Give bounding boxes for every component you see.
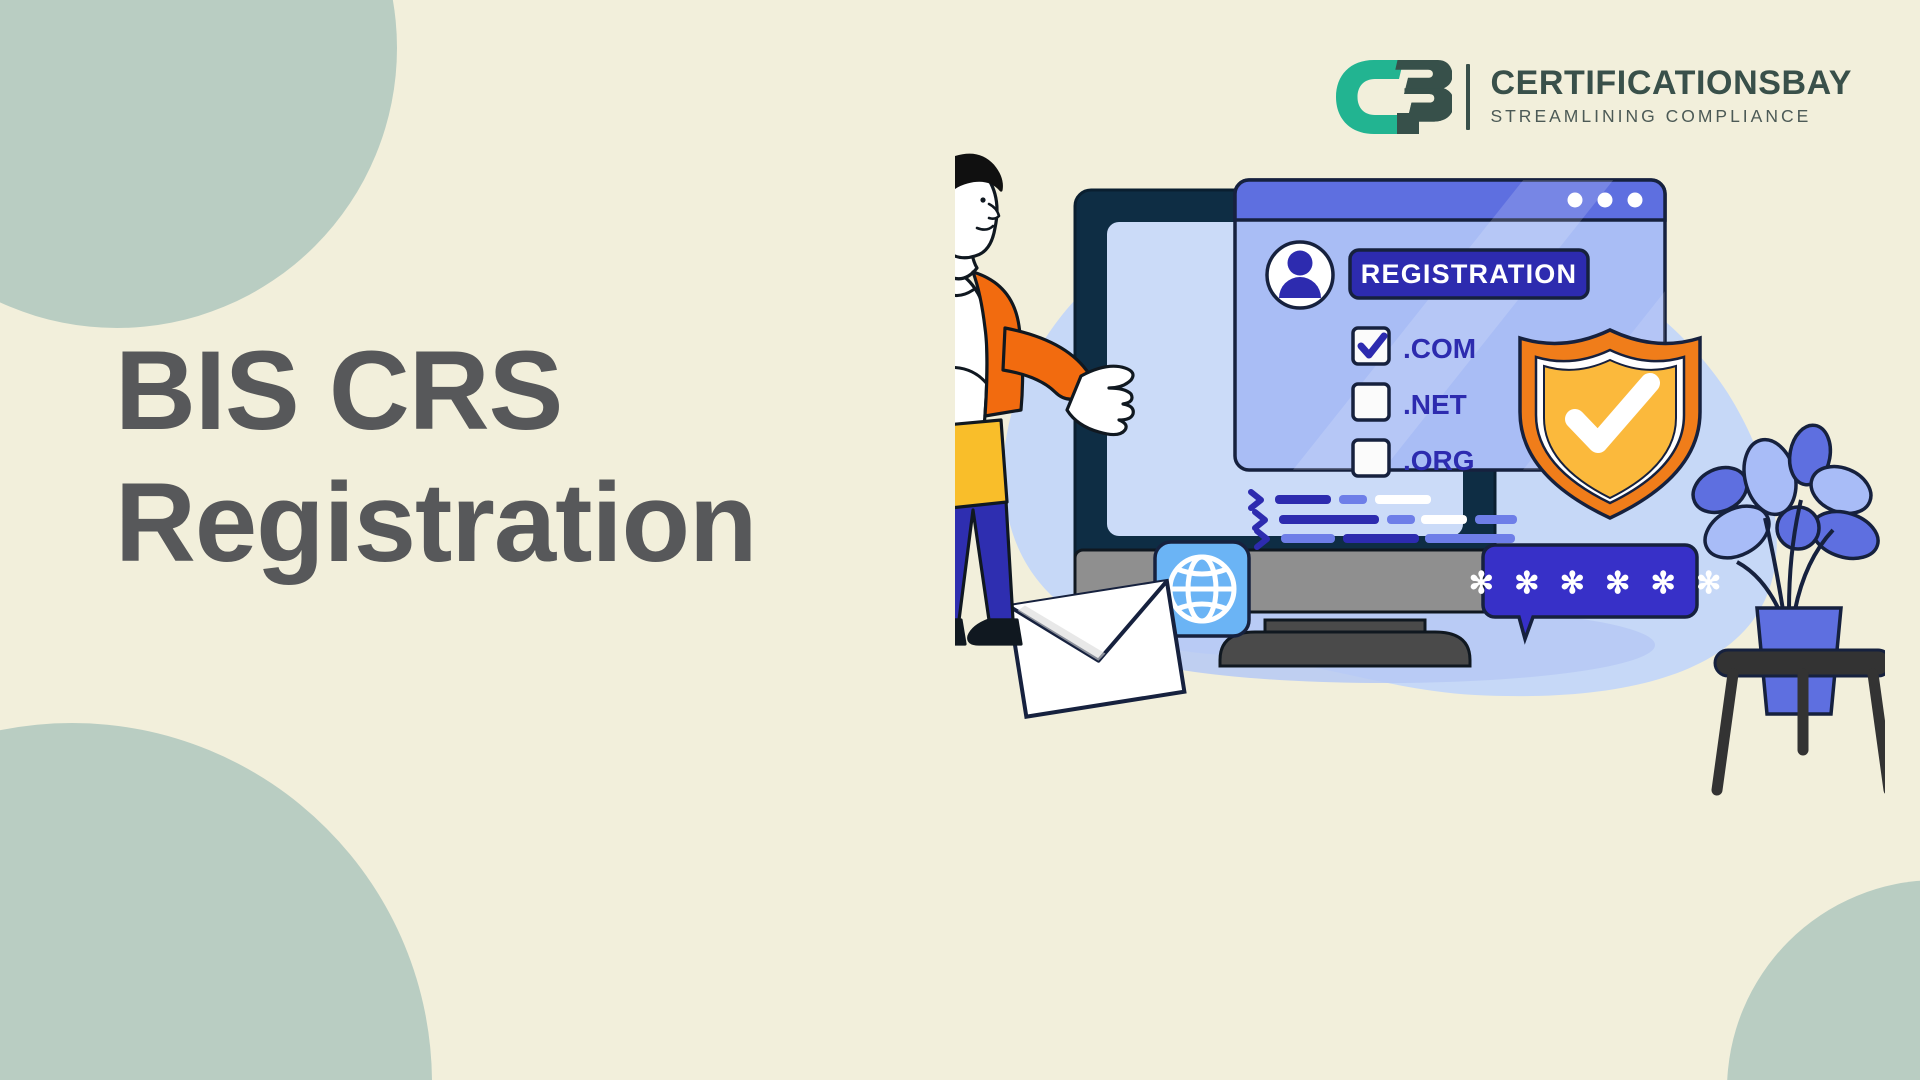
user-avatar-icon [1267, 242, 1333, 308]
password-masked-value: ✻ ✻ ✻ ✻ ✻ ✻ [1469, 567, 1728, 600]
page-title: BIS CRS Registration [115, 325, 955, 589]
checkbox-row-org[interactable]: .ORG [1353, 440, 1475, 476]
page-title-line-1: BIS CRS [115, 325, 955, 457]
logo-tagline: STREAMLINING COMPLIANCE [1490, 105, 1852, 128]
domain-checkbox-group[interactable]: .COM .NET .ORG [1353, 328, 1476, 476]
checkbox-row-net[interactable]: .NET [1353, 384, 1467, 420]
decorative-circle-bottom-right [1727, 880, 1920, 1080]
logo-wordmark: CERTIFICATIONSBAY STREAMLINING COMPLIANC… [1490, 66, 1852, 127]
online-registration-illustration: REGISTRATION .COM .NET [955, 150, 1885, 810]
decorative-circle-bottom-left [0, 723, 432, 1080]
registration-badge-label: REGISTRATION [1361, 259, 1577, 289]
poster-canvas: BIS CRS Registration CERTIFICATIONSBAY S… [0, 0, 1920, 1080]
checkbox-label-com: .COM [1403, 333, 1476, 364]
checkbox-label-net: .NET [1403, 389, 1467, 420]
logo-company-name: CERTIFICATIONSBAY [1490, 66, 1852, 102]
checkbox-row-com[interactable]: .COM [1353, 328, 1476, 364]
page-title-line-2: Registration [115, 457, 955, 589]
decorative-circle-top-left [0, 0, 397, 328]
checkbox-label-org: .ORG [1403, 445, 1475, 476]
envelope-icon [1009, 581, 1185, 717]
logo-divider [1466, 64, 1470, 130]
cb-monogram-icon [1336, 58, 1452, 136]
registration-title-badge[interactable]: REGISTRATION [1350, 250, 1588, 298]
brand-logo[interactable]: CERTIFICATIONSBAY STREAMLINING COMPLIANC… [1336, 58, 1852, 136]
